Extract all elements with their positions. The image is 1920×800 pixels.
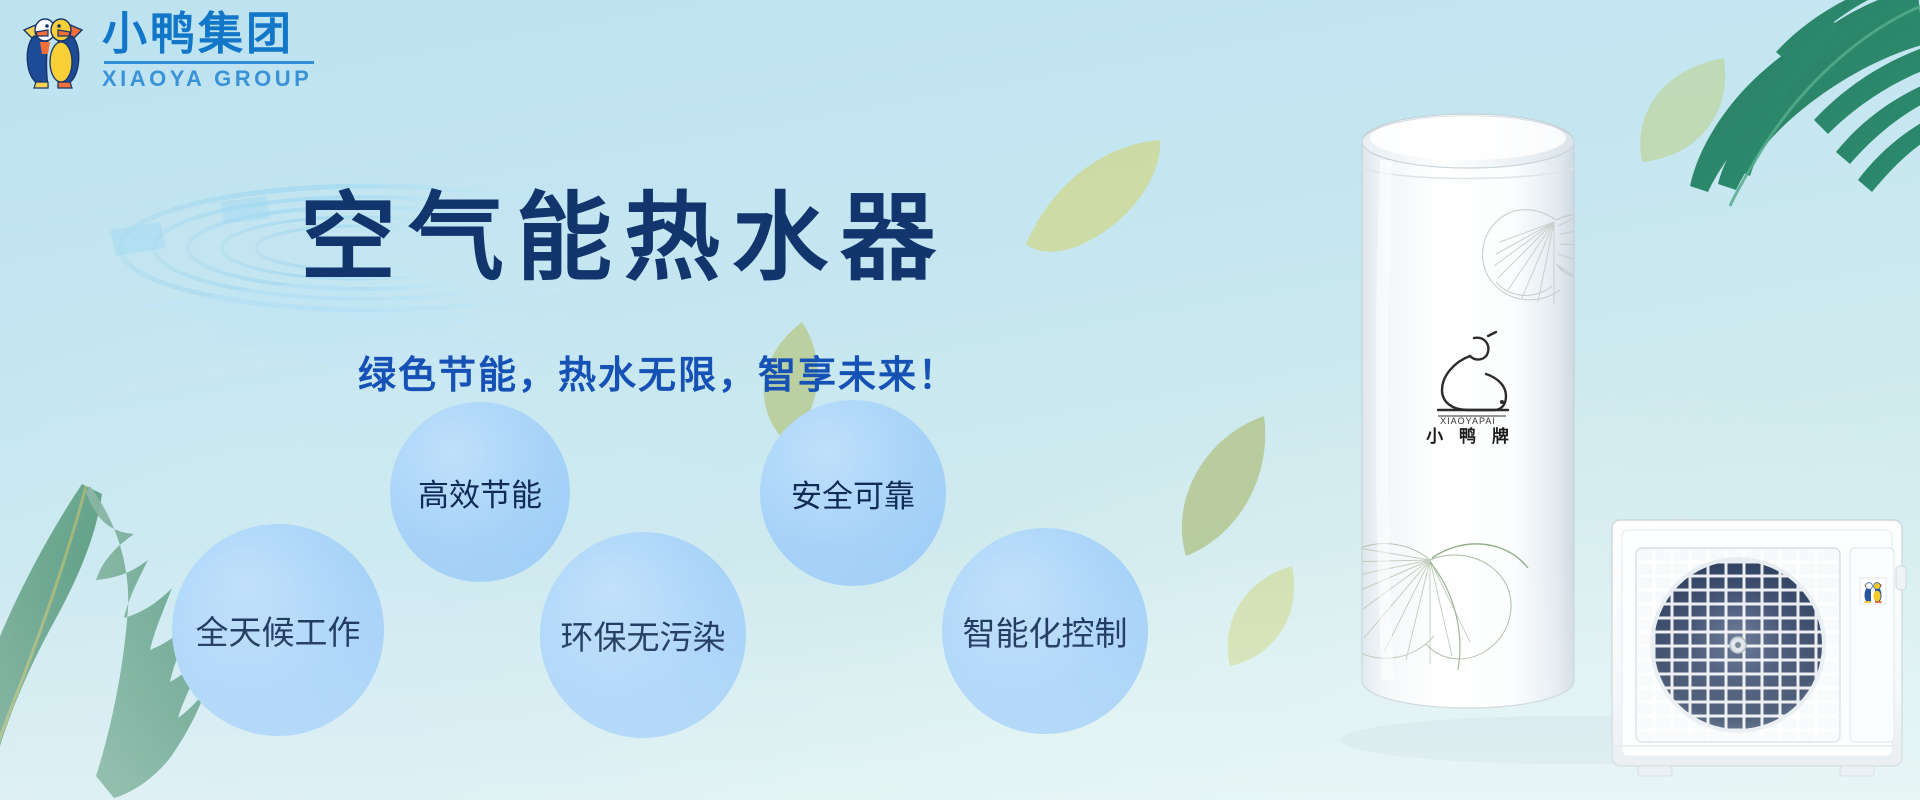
feature-bubble-4[interactable]: 智能化控制 <box>942 528 1148 734</box>
green-leaf-icon <box>1216 560 1306 670</box>
feature-label: 高效节能 <box>418 470 542 515</box>
tank-brand-cn: 小 鸭 牌 <box>1426 426 1514 447</box>
outdoor-unit <box>1612 520 1906 776</box>
brand-name-en: XIAOYA GROUP <box>102 68 312 90</box>
brand-name-cn: 小鸭集团 <box>102 11 312 56</box>
fan-grille-icon <box>1652 559 1824 731</box>
product-image: XIAOYAPAI 小 鸭 牌 <box>1320 80 1920 800</box>
duck-pair-mascot-icon <box>14 8 92 92</box>
monstera-leaf-icon <box>1600 0 1920 216</box>
banner-root: 小鸭集团 XIAOYA GROUP 空气能热水器 绿色节能，热水无限，智享未来！… <box>0 0 1920 800</box>
logo-divider <box>104 61 314 64</box>
tank-brand-en: XIAOYAPAI <box>1440 416 1496 426</box>
feature-label: 智能化控制 <box>963 607 1128 655</box>
page-subtitle: 绿色节能，热水无限，智享未来！ <box>358 344 958 399</box>
green-leaf-icon <box>1800 512 1910 632</box>
page-title: 空气能热水器 <box>300 160 948 299</box>
feature-bubble-3[interactable]: 环保无污染 <box>540 532 746 738</box>
green-leaf-icon <box>1620 50 1740 170</box>
duck-pair-badge-icon <box>1860 578 1886 604</box>
feature-bubble-0[interactable]: 高效节能 <box>390 402 570 582</box>
green-leaf-icon <box>1168 410 1278 560</box>
green-leaf-icon <box>1012 128 1172 258</box>
feature-label: 环保无污染 <box>561 611 726 659</box>
feature-bubble-1[interactable]: 安全可靠 <box>760 400 946 586</box>
brand-logo[interactable]: 小鸭集团 XIAOYA GROUP <box>14 8 312 92</box>
feature-label: 全天候工作 <box>196 606 361 654</box>
feature-bubble-2[interactable]: 全天候工作 <box>172 524 384 736</box>
feature-label: 安全可靠 <box>791 471 915 516</box>
